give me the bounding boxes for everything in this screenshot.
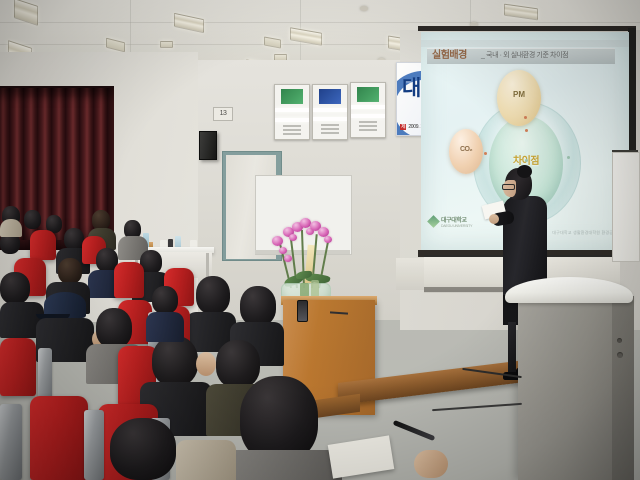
recessed-fluorescent-light [106, 38, 125, 53]
recessed-fluorescent-light [264, 37, 281, 49]
slide-logo-subtext: DAEGU UNIVERSITY [441, 224, 472, 228]
diagram-node-icon [484, 152, 487, 155]
audience-head [196, 276, 230, 314]
recessed-fluorescent-light [504, 4, 538, 21]
lecture-hall-photo: 13 대구 대 제2009. 11. 실험배경 _ 국내 · 외 실내환경 기준… [0, 0, 640, 480]
audience-head [216, 340, 260, 388]
orchid-bloom [279, 247, 287, 254]
diamond-logo-icon [427, 215, 440, 228]
slide-top-strip [421, 40, 629, 47]
seat-frame [0, 404, 22, 480]
diagram-bubble-pm-label: PM [497, 90, 541, 99]
slide-university-logo: 대구대학교 DAEGU UNIVERSITY [429, 215, 472, 228]
audience-torso [176, 440, 236, 480]
orchid-bloom [289, 234, 297, 241]
ceiling-spot-icon [360, 6, 368, 11]
presenter-leg [508, 322, 516, 377]
pedestal-bottle [300, 283, 309, 297]
flipchart-board [612, 152, 640, 262]
wall-poster [274, 84, 310, 140]
diagram-node-icon [525, 159, 528, 162]
glasses-icon [502, 184, 515, 190]
floor-cable [432, 403, 522, 411]
auditorium-seat[interactable] [30, 396, 88, 480]
slide-title: 실험배경 [432, 48, 467, 63]
audience-head [96, 308, 132, 348]
diagram-node-icon [524, 116, 527, 119]
podium [518, 288, 624, 480]
audience-hand [196, 352, 216, 376]
audience-head [58, 258, 82, 284]
audience-head [110, 418, 176, 480]
audience-head [152, 286, 178, 314]
podium-side-panel [612, 296, 634, 480]
audience-head [152, 336, 198, 386]
auditorium-seat[interactable] [30, 230, 56, 260]
banner-date-prefix: 제 [400, 124, 406, 130]
table-leg [206, 253, 209, 279]
diagram-node-icon [525, 129, 528, 132]
diagram-node-icon [567, 156, 570, 159]
seat-frame [38, 348, 52, 402]
screen-top-edge [418, 26, 636, 31]
slide-footer-text: 대구대학교 생활환경대학원 환경공학 [552, 230, 617, 236]
orchid-bloom [324, 236, 332, 243]
presenter-hand [489, 214, 499, 224]
slide-logo-text: 대구대학교 [441, 215, 472, 224]
podium-control-button[interactable] [617, 352, 623, 358]
wall-poster [350, 82, 386, 138]
audience-torso [0, 219, 22, 237]
audience-torso [146, 312, 184, 342]
audience-head [0, 272, 30, 304]
auditorium-seat[interactable] [114, 262, 144, 298]
notepad[interactable] [328, 435, 395, 478]
whiteboard [255, 175, 352, 255]
audience-head [240, 286, 276, 326]
mobile-phone[interactable] [297, 300, 308, 322]
podium-control-button[interactable] [617, 338, 622, 343]
audience-head [92, 210, 110, 230]
side-cabinet [396, 258, 426, 290]
pen[interactable] [393, 420, 436, 441]
room-number-sign: 13 [213, 107, 233, 121]
orchid-bloom [284, 255, 292, 262]
audience-torso [222, 450, 342, 480]
pedestal-bottle [311, 280, 319, 297]
presenter-hair-bun [517, 165, 532, 178]
hand [414, 450, 448, 478]
diagram-bubble-co2-label: CO₂ [449, 146, 483, 153]
auditorium-seat[interactable] [0, 338, 36, 396]
audience-head [24, 210, 41, 229]
wall-poster [312, 84, 348, 140]
wall-speaker-icon [199, 131, 217, 160]
audience-head [64, 228, 84, 250]
slide-subtitle: _ 국내 · 외 실내환경 기준 차이점 [481, 49, 568, 63]
recessed-fluorescent-light [174, 13, 204, 33]
seat-frame [84, 410, 104, 480]
recessed-fluorescent-light [160, 41, 173, 48]
orchid-bloom [272, 236, 283, 246]
